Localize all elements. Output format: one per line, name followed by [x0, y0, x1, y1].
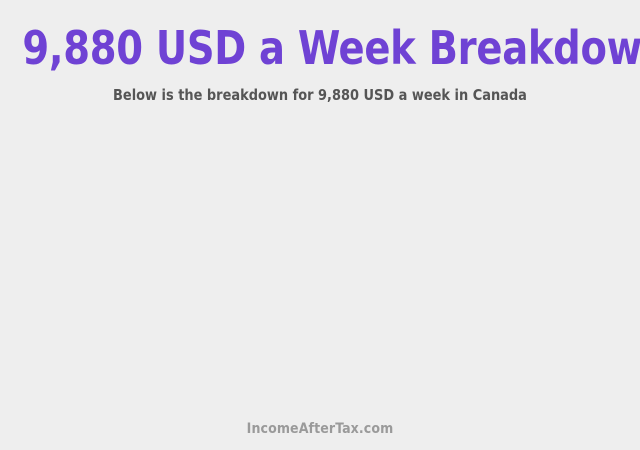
- page-header: 9,880 USD a Week Breakdown Below is the …: [0, 0, 640, 104]
- breakdown-content-area: [0, 118, 640, 408]
- footer-brand-label: IncomeAfterTax.com: [247, 421, 394, 437]
- page-footer: IncomeAfterTax.com: [0, 420, 640, 438]
- page-title: 9,880 USD a Week Breakdown: [22, 0, 617, 74]
- page-subtitle: Below is the breakdown for 9,880 USD a w…: [13, 74, 627, 104]
- page-root: 9,880 USD a Week Breakdown Below is the …: [0, 0, 640, 450]
